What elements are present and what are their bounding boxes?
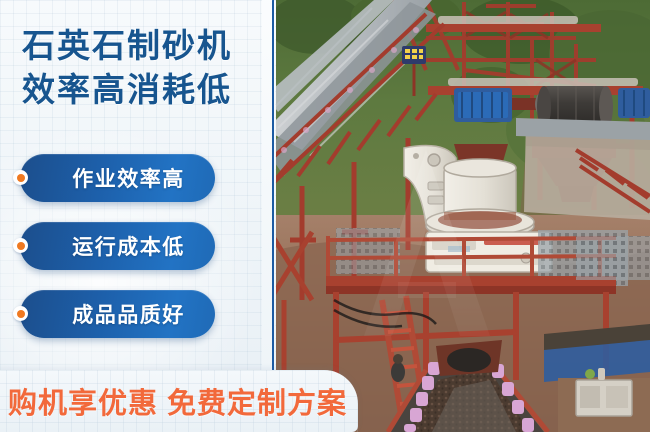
orange-dot-icon [13, 306, 28, 321]
orange-dot-icon [13, 170, 28, 185]
cta-text: 购机享优惠 免费定制方案 [8, 380, 347, 422]
headline-block: 石英石制砂机 效率高消耗低 [22, 24, 232, 112]
feature-list: 作业效率高 运行成本低 成品品质好 [0, 152, 282, 356]
feature-label: 运行成本低 [50, 231, 185, 261]
plant-photo-illustration [276, 0, 650, 432]
feature-pill-3[interactable]: 成品品质好 [20, 290, 215, 338]
headline-line-1: 石英石制砂机 [22, 24, 232, 68]
promo-banner: 石英石制砂机 效率高消耗低 作业效率高 运行成本低 成品品质好 [0, 0, 650, 432]
headline-line-2: 效率高消耗低 [22, 68, 232, 112]
cta-banner[interactable]: 购机享优惠 免费定制方案 [0, 370, 358, 432]
feature-row: 运行成本低 [0, 220, 282, 288]
feature-row: 成品品质好 [0, 288, 282, 356]
feature-pill-1[interactable]: 作业效率高 [20, 154, 215, 202]
orange-dot-icon [13, 238, 28, 253]
plant-photo [276, 0, 650, 432]
feature-label: 作业效率高 [50, 163, 185, 193]
feature-row: 作业效率高 [0, 152, 282, 220]
feature-pill-2[interactable]: 运行成本低 [20, 222, 215, 270]
feature-label: 成品品质好 [50, 299, 185, 329]
